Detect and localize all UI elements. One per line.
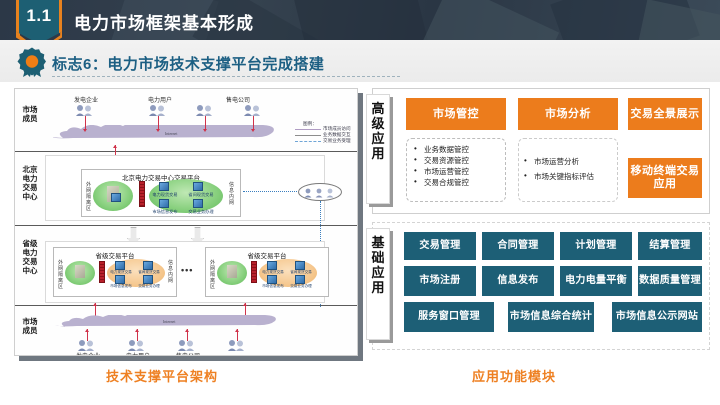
node-label-2: 市场信息发布 xyxy=(109,284,133,289)
people-icon xyxy=(195,104,217,116)
list-item: 交易合规管控 xyxy=(414,177,469,188)
caption-left: 技术支撑平台架构 xyxy=(106,366,218,385)
link-arrow-head xyxy=(93,303,97,306)
module-power-balance[interactable]: 电力电量平衡 xyxy=(560,266,632,296)
server-icon xyxy=(159,182,169,191)
actor-label-top-1: 电力用户 xyxy=(133,95,187,104)
node-label-2: 市场信息发布 xyxy=(151,209,179,215)
node-label-0: 电力现货交易 xyxy=(261,270,285,275)
module-market-info-website[interactable]: 市场信息公示网站 xyxy=(612,302,702,332)
node-label-3: 交易业务办理 xyxy=(289,284,313,289)
subtitle-text: 标志6：电力市场技术支撑平台完成搭建 xyxy=(52,53,324,74)
server-icon xyxy=(111,193,121,202)
server-icon xyxy=(295,261,305,270)
cloud-label-internet-bottom: Internet xyxy=(163,319,175,324)
page-title: 电力市场框架基本形成 xyxy=(74,9,254,34)
legend-line-0 xyxy=(295,129,321,130)
zone-label-outer: 外网隔离区 xyxy=(57,261,64,291)
legend-line-1 xyxy=(295,135,321,136)
band-label-provincial-center: 省级电力交易中心 xyxy=(19,239,41,275)
list-item: 交易资源管控 xyxy=(414,155,469,166)
band-label-beijing-center: 北京电力交易中心 xyxy=(19,165,41,201)
node-label-0: 电力现货交易 xyxy=(151,192,179,198)
side-box-mobile-terminal[interactable]: 移动终端交易应用 xyxy=(628,158,702,198)
internet-cloud-top xyxy=(53,125,325,145)
people-icon xyxy=(303,187,337,198)
link-arrow xyxy=(85,116,86,130)
module-trade-management[interactable]: 交易管理 xyxy=(404,232,476,260)
list-item: 市场运营管控 xyxy=(414,166,469,177)
server-icon xyxy=(143,261,153,270)
advanced-tier-tag: 高级应用 xyxy=(366,94,390,204)
list-item: 市场运营分析 xyxy=(524,154,594,169)
dotted-link xyxy=(243,191,297,192)
server-icon xyxy=(267,275,277,284)
beijing-platform-title: 北京电力交易中心交易平台 xyxy=(82,172,240,182)
server-icon xyxy=(115,261,125,270)
band-divider xyxy=(15,151,358,152)
module-info-publishing[interactable]: 信息发布 xyxy=(482,266,554,296)
people-icon xyxy=(148,104,170,116)
server-icon xyxy=(295,275,305,284)
people-icon xyxy=(127,339,149,351)
people-icon xyxy=(77,339,99,351)
server-icon xyxy=(193,199,203,208)
link-arrow-head xyxy=(251,129,255,132)
card-title-market-analysis[interactable]: 市场分析 xyxy=(518,98,618,130)
node-label-1: 省间现货交易 xyxy=(137,270,161,275)
server-icon xyxy=(227,265,237,278)
actor-label-top-0: 发电企业 xyxy=(59,95,113,104)
server-icon xyxy=(193,182,203,191)
application-modules-panel: 高级应用 市场管控 市场分析 交易全景展示 移动终端交易应用 业务数据管控 交易… xyxy=(366,88,710,356)
subtitle-underline xyxy=(52,76,400,77)
node-label-1: 省间现货交易 xyxy=(289,270,313,275)
list-item: 市场关键指标评估 xyxy=(524,169,594,184)
module-settlement-management[interactable]: 结算管理 xyxy=(638,232,702,260)
link-arrow-head xyxy=(203,129,207,132)
header-facet xyxy=(421,0,559,40)
card-title-market-control[interactable]: 市场管控 xyxy=(406,98,506,130)
internet-cloud-bottom xyxy=(55,315,323,333)
link-arrow-head xyxy=(243,303,247,306)
ellipsis-separator: ••• xyxy=(181,265,193,275)
actor-label-bottom-1: 电力用户 xyxy=(111,351,165,356)
medal-rosette-icon xyxy=(16,46,48,78)
band-label-market-member-top: 市场成员 xyxy=(19,105,41,123)
band-divider xyxy=(15,305,358,306)
people-icon xyxy=(177,339,199,351)
server-icon xyxy=(267,261,277,270)
node-label-2: 市场信息发布 xyxy=(261,284,285,289)
zone-label-inner: 信息内网 xyxy=(167,261,174,285)
header-facet xyxy=(292,0,428,40)
module-plan-management[interactable]: 计划管理 xyxy=(560,232,632,260)
server-icon xyxy=(115,275,125,284)
firewall-icon xyxy=(99,261,105,283)
legend-line-2 xyxy=(295,141,321,142)
link-arrow-head xyxy=(83,129,87,132)
legend-title: 图例： xyxy=(303,121,317,127)
link-arrow xyxy=(158,116,159,130)
market-control-items: 业务数据管控 交易资源管控 市场运营管控 交易合规管控 xyxy=(414,144,469,188)
server-icon xyxy=(159,199,169,208)
link-arrow-head xyxy=(185,329,189,332)
node-label-0: 电力现货交易 xyxy=(109,270,133,275)
module-market-registration[interactable]: 市场注册 xyxy=(404,266,476,296)
server-icon xyxy=(75,265,85,278)
people-icon xyxy=(75,104,97,116)
link-arrow-head xyxy=(135,329,139,332)
basic-tier-tag: 基础应用 xyxy=(366,228,390,340)
module-market-info-stats[interactable]: 市场信息综合统计 xyxy=(508,302,594,332)
actor-label-bottom-2: 售电公司 xyxy=(161,351,215,356)
band-label-market-member-bottom: 市场成员 xyxy=(19,317,41,335)
people-icon xyxy=(227,339,249,351)
provincial-platform-title-0: 省级交易平台 xyxy=(54,250,176,260)
firewall-icon xyxy=(251,261,257,283)
node-label-3: 交易业务办理 xyxy=(137,284,161,289)
band-divider xyxy=(15,225,358,226)
link-arrow-head xyxy=(85,329,89,332)
architecture-diagram-panel: 市场成员 北京电力交易中心 省级电力交易中心 市场成员 发电企业 电力用户 售电… xyxy=(14,88,358,356)
slide-root: 1.1 电力市场框架基本形成 标志6：电力市场技术支撑平台完成搭建 市场成员 北… xyxy=(0,0,720,405)
zone-label-outer: 外网隔离区 xyxy=(209,261,216,291)
module-contract-management[interactable]: 合同管理 xyxy=(482,232,554,260)
node-label-1: 省间现货交易 xyxy=(187,192,215,198)
zone-label-outer: 外网隔离区 xyxy=(85,183,92,213)
link-arrow xyxy=(253,116,254,130)
list-item: 业务数据管控 xyxy=(414,144,469,155)
firewall-icon xyxy=(139,181,145,207)
legend-label-2: 交易业务受理 xyxy=(323,138,351,144)
zone-label-inner: 信息内网 xyxy=(228,183,235,207)
module-data-quality[interactable]: 数据质量管理 xyxy=(638,266,702,296)
link-arrow-head xyxy=(113,145,117,148)
link-arrow-head xyxy=(235,329,239,332)
module-service-window[interactable]: 服务窗口管理 xyxy=(404,302,494,332)
people-icon xyxy=(243,104,265,116)
server-icon xyxy=(143,275,153,284)
actor-label-top-2: 售电公司 xyxy=(211,95,265,104)
actor-label-bottom-0: 发电企业 xyxy=(61,351,115,356)
header-facet xyxy=(635,0,720,40)
caption-right: 应用功能模块 xyxy=(472,366,556,385)
cloud-label-internet-top: Internet xyxy=(165,131,177,136)
node-label-3: 交易业务办理 xyxy=(187,209,215,215)
market-analysis-items: 市场运营分析 市场关键指标评估 xyxy=(524,154,594,184)
link-arrow-head xyxy=(156,129,160,132)
link-arrow xyxy=(205,116,206,130)
side-box-trade-overview[interactable]: 交易全景展示 xyxy=(628,98,702,130)
provincial-platform-title-1: 省级交易平台 xyxy=(206,250,328,260)
